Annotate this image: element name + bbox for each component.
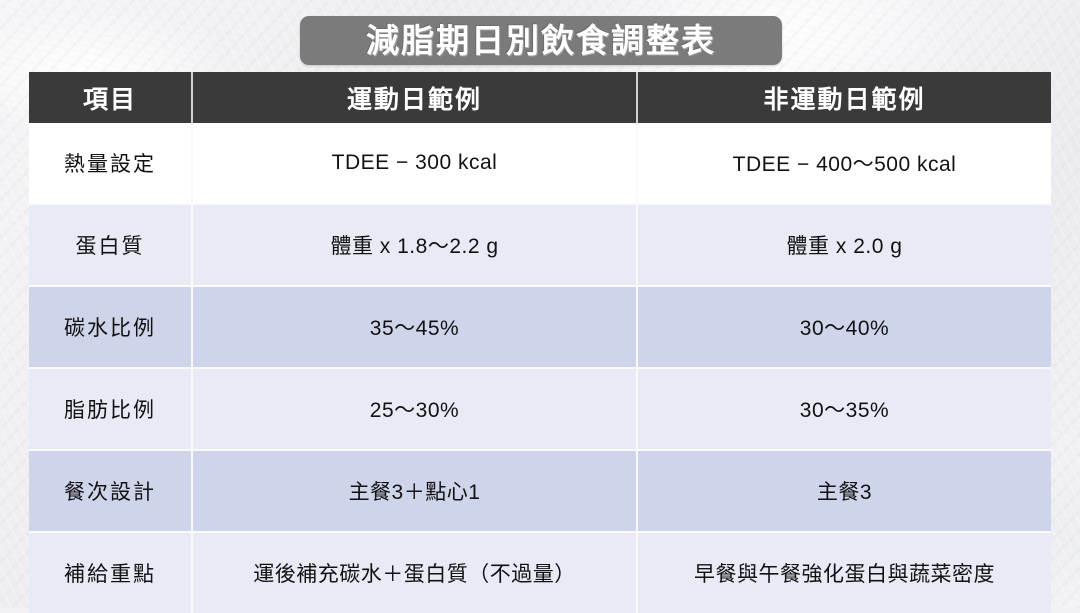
table-row: 補給重點 運後補充碳水＋蛋白質（不過量） 早餐與午餐強化蛋白與蔬菜密度 [29,532,1051,613]
infographic-content: 減脂期日別飲食調整表 項目 運動日範例 非運動日範例 熱量設定 TDEE − 3… [0,0,1080,608]
table-row: 餐次設計 主餐3＋點心1 主餐3 [29,450,1051,532]
page-title: 減脂期日別飲食調整表 [366,24,716,57]
column-header-rest-day: 非運動日範例 [637,72,1051,123]
cell-training-day: 體重 x 1.8〜2.2 g [192,204,637,286]
row-label: 脂肪比例 [29,368,192,450]
cell-training-day: 25〜30% [192,368,637,450]
table-row: 碳水比例 35〜45% 30〜40% [29,286,1051,368]
table-header: 項目 運動日範例 非運動日範例 [29,72,1051,123]
cell-rest-day: TDEE − 400〜500 kcal [637,123,1051,204]
table-body: 熱量設定 TDEE − 300 kcal TDEE − 400〜500 kcal… [29,123,1051,613]
row-label: 餐次設計 [29,450,192,532]
title-banner: 減脂期日別飲食調整表 [300,16,782,65]
column-header-training-day: 運動日範例 [192,72,637,123]
cell-training-day: 35〜45% [192,286,637,368]
cell-training-day: 運後補充碳水＋蛋白質（不過量） [192,532,637,613]
cell-training-day: 主餐3＋點心1 [192,450,637,532]
cell-rest-day: 30〜35% [637,368,1051,450]
table-header-row: 項目 運動日範例 非運動日範例 [29,72,1051,123]
cell-training-day: TDEE − 300 kcal [192,123,637,204]
cell-rest-day: 30〜40% [637,286,1051,368]
diet-adjustment-table: 項目 運動日範例 非運動日範例 熱量設定 TDEE − 300 kcal TDE… [29,72,1051,613]
row-label: 補給重點 [29,532,192,613]
cell-rest-day: 體重 x 2.0 g [637,204,1051,286]
cell-rest-day: 主餐3 [637,450,1051,532]
row-label: 碳水比例 [29,286,192,368]
table-row: 蛋白質 體重 x 1.8〜2.2 g 體重 x 2.0 g [29,204,1051,286]
cell-rest-day: 早餐與午餐強化蛋白與蔬菜密度 [637,532,1051,613]
row-label: 熱量設定 [29,123,192,204]
row-label: 蛋白質 [29,204,192,286]
column-header-item: 項目 [29,72,192,123]
table-row: 脂肪比例 25〜30% 30〜35% [29,368,1051,450]
table-row: 熱量設定 TDEE − 300 kcal TDEE − 400〜500 kcal [29,123,1051,204]
